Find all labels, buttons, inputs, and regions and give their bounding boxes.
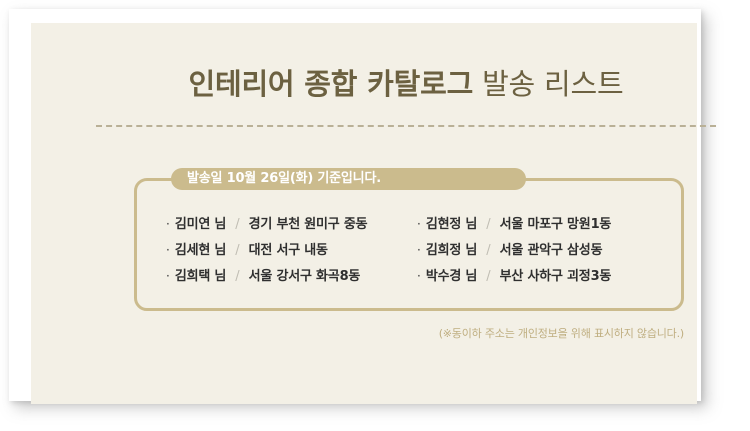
bullet-icon: · bbox=[166, 270, 170, 282]
shipping-date-banner: 발송일 10월 26일(화) 기준입니다. bbox=[171, 168, 526, 190]
recipient-name: 김미연 님 bbox=[175, 213, 226, 232]
card-frame: 인테리어 종합 카탈로그발송 리스트 발송일 10월 26일(화) 기준입니다.… bbox=[9, 9, 701, 401]
recipient-address: 서울 관악구 삼성동 bbox=[500, 239, 603, 258]
list-item: · 김현정 님 / 서울 마포구 망원1동 bbox=[417, 213, 684, 239]
list-item: · 박수경 님 / 부산 사하구 괴정3동 bbox=[417, 265, 684, 291]
bullet-icon: · bbox=[417, 270, 421, 282]
page-title-light: 발송 리스트 bbox=[482, 67, 623, 101]
page-title: 인테리어 종합 카탈로그발송 리스트 bbox=[31, 61, 750, 103]
recipient-address: 경기 부천 원미구 중동 bbox=[249, 213, 368, 232]
list-item: · 김희택 님 / 서울 강서구 화곡8동 bbox=[166, 265, 417, 291]
bullet-icon: · bbox=[166, 218, 170, 230]
bullet-icon: · bbox=[417, 244, 421, 256]
separator: / bbox=[235, 269, 239, 284]
recipient-address: 부산 사하구 괴정3동 bbox=[500, 265, 612, 284]
list-item: · 김미연 님 / 경기 부천 원미구 중동 bbox=[166, 213, 417, 239]
recipient-name: 김현정 님 bbox=[426, 213, 477, 232]
dashed-divider bbox=[96, 125, 716, 127]
recipient-name: 박수경 님 bbox=[426, 265, 477, 284]
list-item: · 김희정 님 / 서울 관악구 삼성동 bbox=[417, 239, 684, 265]
content-panel: 인테리어 종합 카탈로그발송 리스트 발송일 10월 26일(화) 기준입니다.… bbox=[31, 23, 697, 404]
bullet-icon: · bbox=[417, 218, 421, 230]
separator: / bbox=[486, 243, 490, 258]
separator: / bbox=[486, 269, 490, 284]
list-item: · 김세현 님 / 대전 서구 내동 bbox=[166, 239, 417, 265]
separator: / bbox=[235, 243, 239, 258]
recipient-address: 서울 마포구 망원1동 bbox=[500, 213, 612, 232]
privacy-footnote: (※동이하 주소는 개인정보을 위해 표시하지 않습니다.) bbox=[31, 325, 684, 341]
recipient-address: 서울 강서구 화곡8동 bbox=[249, 265, 361, 284]
recipient-list-left-column: · 김미연 님 / 경기 부천 원미구 중동 · 김세현 님 / 대전 서구 내… bbox=[134, 213, 417, 291]
bullet-icon: · bbox=[166, 244, 170, 256]
page-title-strong: 인테리어 종합 카탈로그 bbox=[188, 67, 473, 101]
recipient-list: · 김미연 님 / 경기 부천 원미구 중동 · 김세현 님 / 대전 서구 내… bbox=[134, 213, 684, 291]
separator: / bbox=[486, 217, 490, 232]
recipient-name: 김희정 님 bbox=[426, 239, 477, 258]
separator: / bbox=[235, 217, 239, 232]
recipient-list-right-column: · 김현정 님 / 서울 마포구 망원1동 · 김희정 님 / 서울 관악구 삼… bbox=[417, 213, 684, 291]
recipient-name: 김세현 님 bbox=[175, 239, 226, 258]
recipient-name: 김희택 님 bbox=[175, 265, 226, 284]
recipient-address: 대전 서구 내동 bbox=[249, 239, 328, 258]
